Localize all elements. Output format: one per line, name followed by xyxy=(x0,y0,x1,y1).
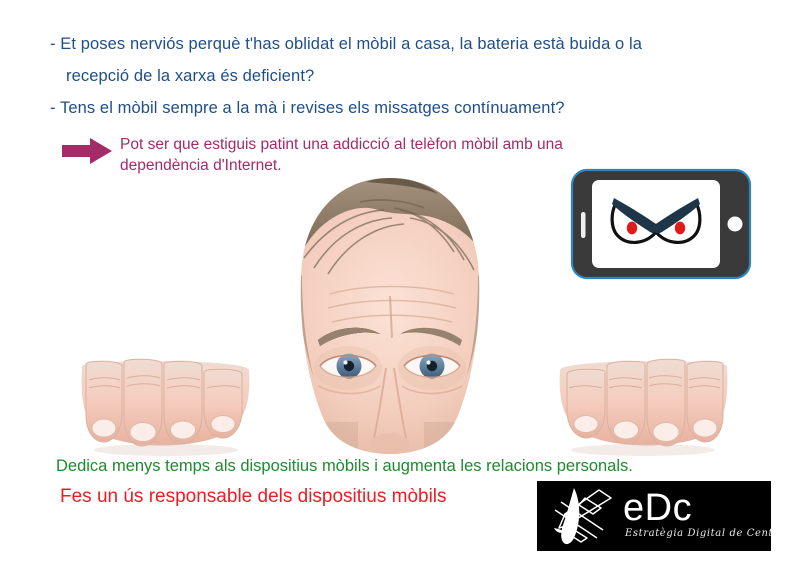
conclusion-line-2: dependència d'Internet. xyxy=(120,157,282,174)
hand-left-photo xyxy=(78,358,253,458)
conclusion-line-1: Pot ser que estiguis patint una addicció… xyxy=(120,136,563,153)
hand-right-photo xyxy=(556,358,731,458)
edc-logo-title: eDc xyxy=(623,488,692,528)
questions-block: - Et poses nerviós perquè t'has oblidat … xyxy=(50,28,770,124)
arrow-right-icon xyxy=(62,138,112,164)
slogan-green: Dedica menys temps als dispositius mòbil… xyxy=(56,455,633,477)
poster-canvas: - Et poses nerviós perquè t'has oblidat … xyxy=(0,0,800,566)
edc-quill-cross-mark xyxy=(541,484,619,548)
edc-logo: eDc Estratègia Digital de Centre xyxy=(537,481,771,551)
question-line-1: - Et poses nerviós perquè t'has oblidat … xyxy=(50,28,770,60)
peeking-face-photo xyxy=(268,172,513,454)
edc-logo-tagline: Estratègia Digital de Centre xyxy=(625,528,771,540)
smartphone-angry-eyes-icon xyxy=(570,168,752,280)
question-line-3: - Tens el mòbil sempre a la mà i revises… xyxy=(50,92,770,124)
question-line-2: recepció de la xarxa és deficient? xyxy=(50,60,770,92)
edc-logo-text: eDc Estratègia Digital de Centre xyxy=(619,484,771,548)
slogan-red: Fes un ús responsable dels dispositius m… xyxy=(60,484,447,510)
conclusion-text: Pot ser que estiguis patint una addicció… xyxy=(120,134,563,176)
